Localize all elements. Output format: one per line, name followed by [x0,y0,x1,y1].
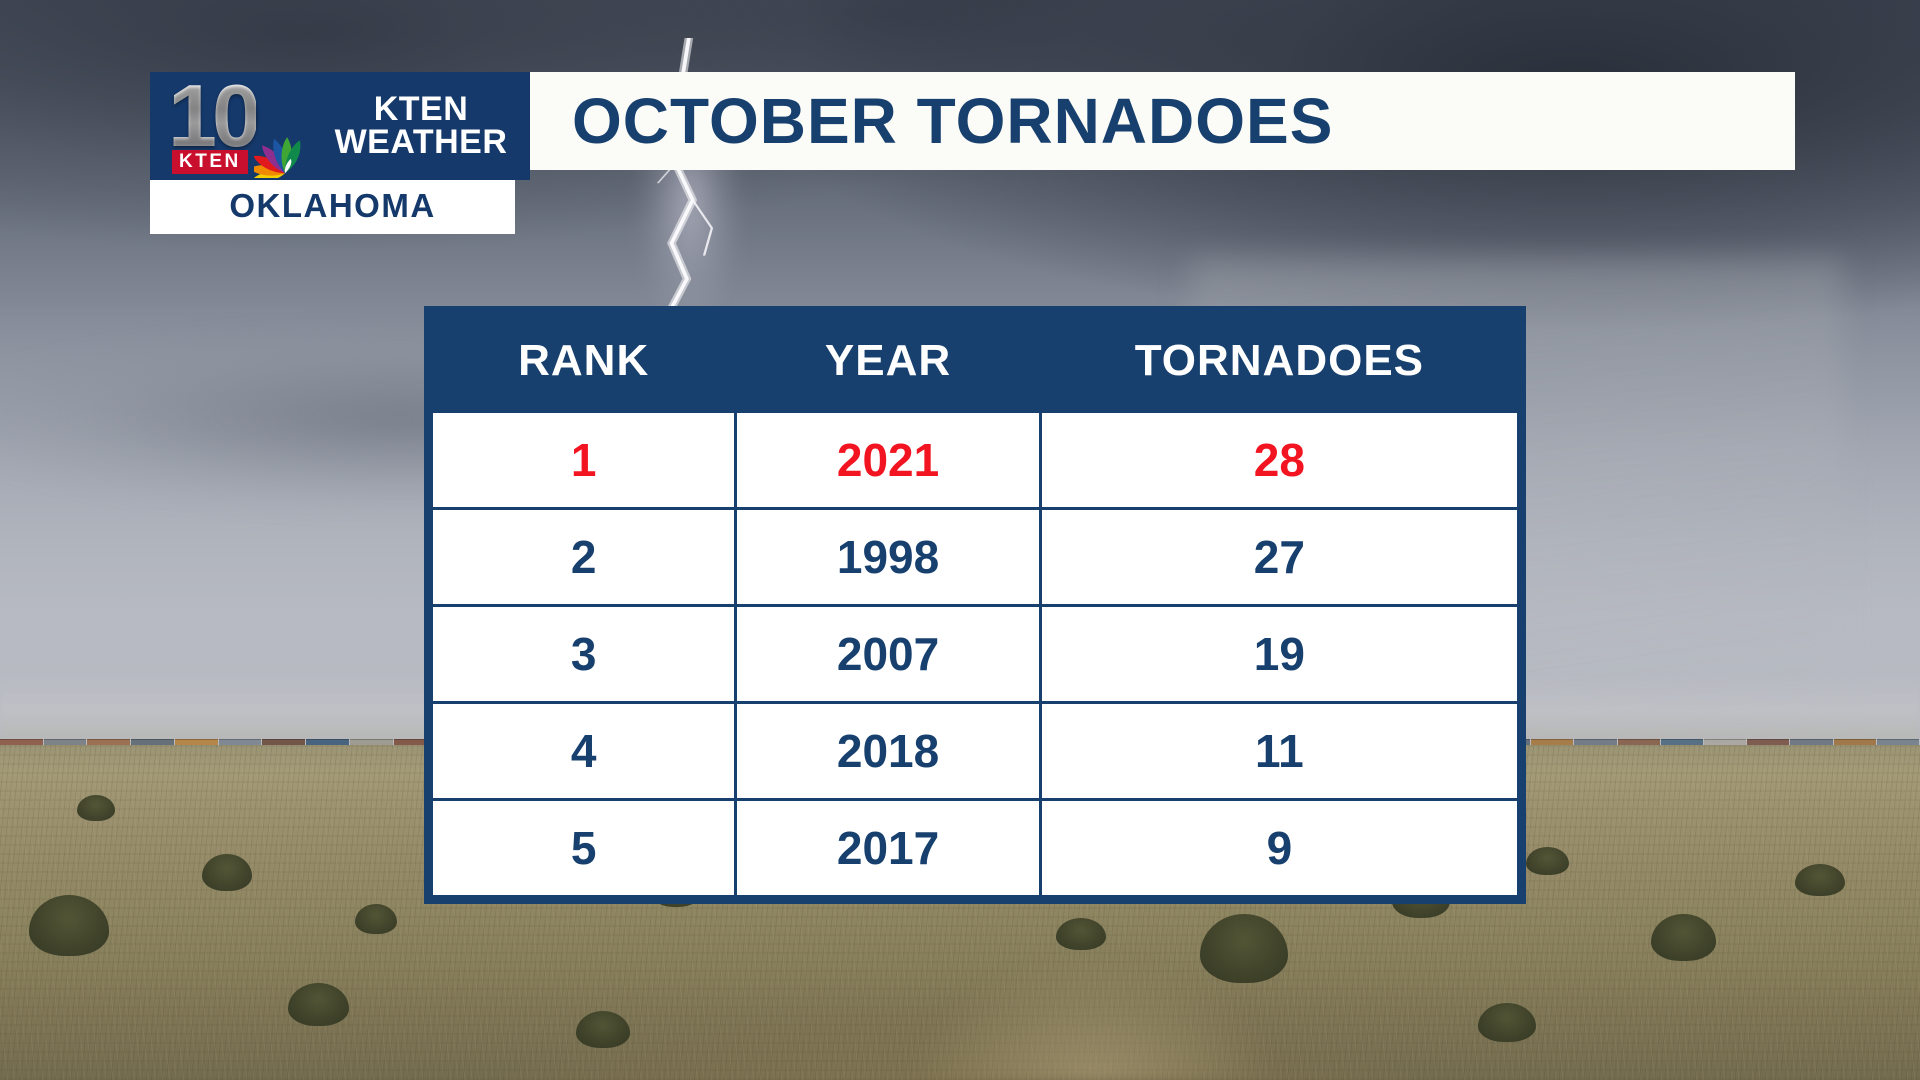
scrub-bush [202,854,252,891]
scrub-bush [1478,1003,1536,1042]
scrub-bush [1056,918,1106,950]
cell-tornadoes: 11 [1040,703,1518,800]
cell-rank: 1 [432,412,736,509]
cell-rank: 5 [432,800,736,897]
table-header-row: RANK YEAR TORNADOES [432,312,1519,412]
cell-tornadoes: 27 [1040,509,1518,606]
cell-rank: 3 [432,606,736,703]
cell-rank: 2 [432,509,736,606]
tornado-rank-table: RANK YEAR TORNADOES 1 2021 28 2 1998 27 … [430,312,1520,898]
table-row: 5 2017 9 [432,800,1519,897]
tornado-rank-table-wrap: RANK YEAR TORNADOES 1 2021 28 2 1998 27 … [424,306,1526,904]
cell-year: 2018 [736,703,1040,800]
scrub-bush [355,904,397,934]
cell-tornadoes: 19 [1040,606,1518,703]
scrub-bush [77,795,115,821]
station-logo-block: 10 KTEN [150,72,530,234]
cell-tornadoes: 9 [1040,800,1518,897]
channel-10-mark: 10 KTEN [162,76,310,176]
column-header-year: YEAR [736,312,1040,412]
cell-year: 2021 [736,412,1040,509]
station-wordmark-line1: KTEN [318,93,524,126]
station-wordmark-line2: WEATHER [318,126,524,159]
cell-tornadoes: 28 [1040,412,1518,509]
cell-year: 2017 [736,800,1040,897]
nbc-peacock-icon [254,132,316,178]
cell-rank: 4 [432,703,736,800]
channel-number: 10 [168,72,256,160]
page-title: OCTOBER TORNADOES [530,84,1333,158]
station-wordmark: KTEN WEATHER [310,93,524,158]
scrub-bush [1795,864,1845,896]
weather-graphic-stage: 10 KTEN [0,0,1920,1080]
table-body: 1 2021 28 2 1998 27 3 2007 19 4 2018 [432,412,1519,897]
table-row: 1 2021 28 [432,412,1519,509]
column-header-tornadoes: TORNADOES [1040,312,1518,412]
table-row: 2 1998 27 [432,509,1519,606]
table-row: 4 2018 11 [432,703,1519,800]
scrub-bush [576,1011,630,1048]
title-bar: OCTOBER TORNADOES [530,72,1795,170]
station-logo-bar: 10 KTEN [150,72,530,180]
scrub-bush [1526,847,1568,875]
cell-year: 2007 [736,606,1040,703]
column-header-rank: RANK [432,312,736,412]
kten-badge: KTEN [172,150,248,174]
region-label: OKLAHOMA [150,180,515,234]
table-row: 3 2007 19 [432,606,1519,703]
cell-year: 1998 [736,509,1040,606]
